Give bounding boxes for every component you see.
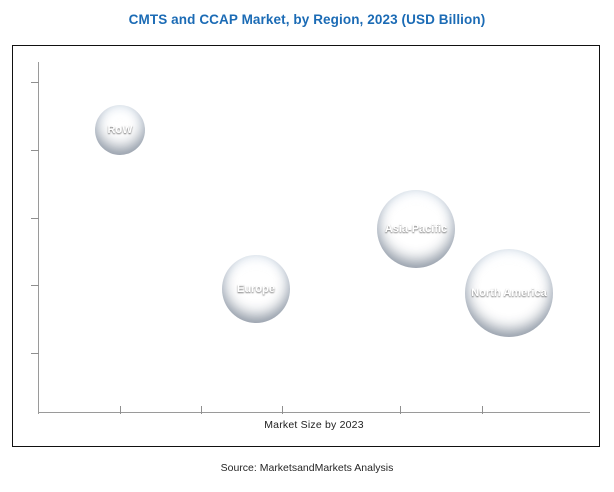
x-axis-tick-3 xyxy=(400,406,401,414)
bubble-chart-figure: CMTS and CCAP Market, by Region, 2023 (U… xyxy=(0,0,614,492)
y-axis-tick-3 xyxy=(31,285,39,286)
y-axis-tick-1 xyxy=(31,150,39,151)
bubble-row[interactable]: RoW xyxy=(95,105,145,155)
x-axis-tick-4 xyxy=(482,406,483,414)
bubble-label: North America xyxy=(471,287,546,299)
bubble-label: Asia-Pacific xyxy=(385,223,447,235)
bubble-label: Europe xyxy=(237,283,275,295)
chart-title: CMTS and CCAP Market, by Region, 2023 (U… xyxy=(0,12,614,27)
y-axis-tick-4 xyxy=(31,353,39,354)
y-axis-line xyxy=(38,62,39,414)
y-axis-tick-0 xyxy=(31,82,39,83)
source-note: Source: MarketsandMarkets Analysis xyxy=(0,462,614,474)
y-axis-tick-2 xyxy=(31,218,39,219)
x-axis-tick-1 xyxy=(201,406,202,414)
x-axis-label: Market Size by 2023 xyxy=(38,419,590,431)
x-axis-tick-0 xyxy=(120,406,121,414)
bubble-asia-pacific[interactable]: Asia-Pacific xyxy=(377,190,455,268)
bubble-europe[interactable]: Europe xyxy=(222,255,290,323)
x-axis-tick-2 xyxy=(282,406,283,414)
bubble-north-america[interactable]: North America xyxy=(465,249,553,337)
bubble-label: RoW xyxy=(107,124,132,136)
plot-frame xyxy=(12,45,600,447)
